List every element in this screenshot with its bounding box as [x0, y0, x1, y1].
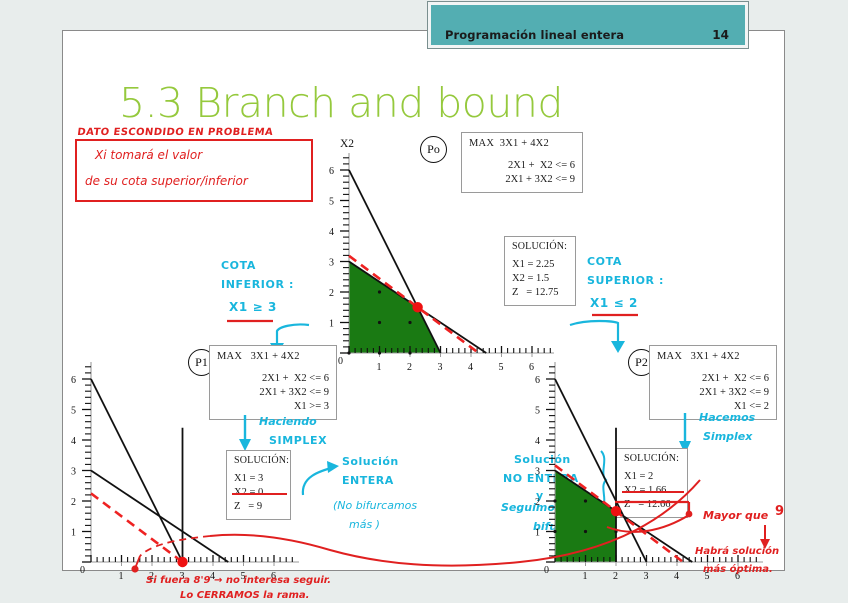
svg-text:1: 1	[71, 528, 76, 539]
svg-text:5: 5	[329, 197, 334, 208]
svg-text:4: 4	[535, 436, 540, 447]
cota-superior-line2: SUPERIOR :	[587, 274, 664, 288]
svg-text:6: 6	[71, 375, 76, 386]
red-note-line1: Xi tomará el valor	[95, 148, 202, 163]
svg-text:3: 3	[438, 362, 443, 373]
svg-text:5: 5	[535, 406, 540, 417]
cerramos-line1: Si fuera 8'9 → no interesa seguir.	[146, 575, 331, 588]
solution-p0-x1: X1 = 2.25	[512, 258, 568, 272]
habra-solucion-line2: más óptima.	[703, 564, 773, 577]
cota-superior-line1: COTA	[587, 255, 622, 269]
svg-text:1: 1	[535, 528, 540, 539]
solution-p0-x2: X2 = 1.5	[512, 272, 568, 286]
svg-text:3: 3	[329, 258, 334, 269]
chart-p1: 0123456123456X1	[59, 347, 304, 585]
svg-text:1: 1	[583, 571, 588, 582]
mayor-que-value: 9	[775, 504, 784, 521]
header-page-number: 14	[712, 28, 729, 42]
red-note-heading: DATO ESCONDIDO EN PROBLEMA	[76, 127, 273, 140]
p1-result-line3: (No bifurcamos	[333, 499, 417, 513]
svg-text:3: 3	[644, 571, 649, 582]
svg-text:3: 3	[535, 467, 540, 478]
cota-inferior-line2: INFERIOR :	[221, 278, 294, 292]
svg-text:2: 2	[535, 497, 540, 508]
svg-text:0: 0	[544, 565, 549, 576]
svg-text:5: 5	[499, 362, 504, 373]
svg-text:X2: X2	[340, 138, 354, 150]
page-title: 5.3 Branch and bound	[119, 79, 563, 127]
svg-text:0: 0	[338, 356, 343, 367]
svg-text:4: 4	[71, 436, 76, 447]
svg-text:2: 2	[407, 362, 412, 373]
svg-text:0: 0	[80, 565, 85, 576]
header-title: Programación lineal entera	[445, 28, 624, 42]
svg-text:2: 2	[71, 497, 76, 508]
svg-text:2: 2	[329, 288, 334, 299]
cerramos-line2: Lo CERRAMOS la rama.	[180, 590, 309, 603]
p1-result-line1: Solución	[342, 455, 399, 469]
svg-text:1: 1	[377, 362, 382, 373]
solution-p0-z: Z = 12.75	[512, 286, 568, 300]
svg-text:4: 4	[674, 571, 679, 582]
red-note-line2: de su cota superior/inferior	[85, 174, 248, 189]
solution-box-p0: SOLUCIÓN: X1 = 2.25 X2 = 1.5 Z = 12.75	[504, 236, 576, 306]
svg-text:5: 5	[71, 406, 76, 417]
cota-inferior-line1: COTA	[221, 259, 256, 273]
svg-text:4: 4	[468, 362, 473, 373]
screenshot-root: 5.3 Branch and bound DATO ESCONDIDO EN P…	[0, 0, 848, 599]
svg-text:1: 1	[329, 319, 334, 330]
svg-text:6: 6	[535, 375, 540, 386]
solution-p0-title: SOLUCIÓN:	[512, 241, 568, 252]
svg-text:1: 1	[119, 571, 124, 582]
p1-result-line2: ENTERA	[342, 474, 394, 488]
habra-solucion-line1: Habrá solución	[695, 546, 779, 559]
header-band: Programación lineal entera 14	[428, 2, 748, 48]
svg-text:2: 2	[613, 571, 618, 582]
slide-page: 5.3 Branch and bound DATO ESCONDIDO EN P…	[62, 30, 785, 571]
svg-text:6: 6	[329, 166, 334, 177]
p1-result-line4: más )	[349, 518, 380, 532]
svg-text:3: 3	[71, 467, 76, 478]
mayor-que-text: Mayor que	[703, 509, 768, 523]
svg-text:4: 4	[329, 227, 334, 238]
